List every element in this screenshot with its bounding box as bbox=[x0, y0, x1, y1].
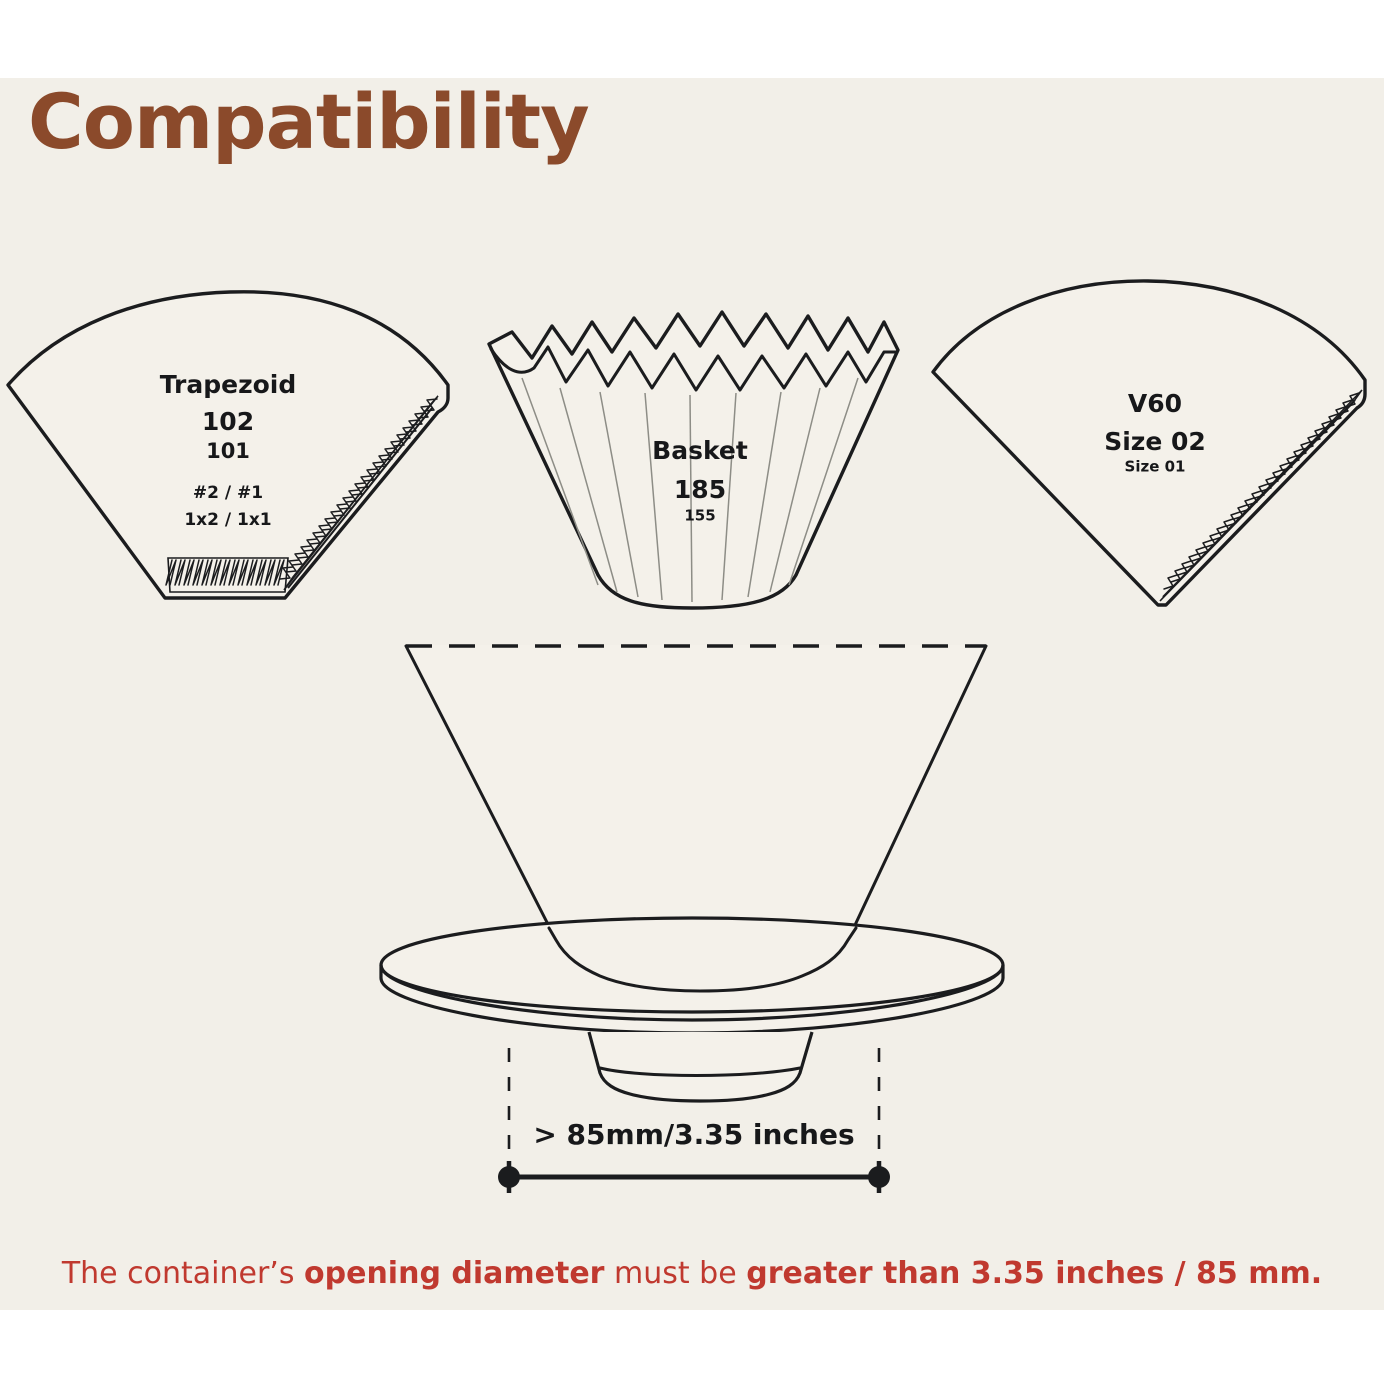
basket-size-secondary: 155 bbox=[684, 507, 715, 525]
v60-size-primary: Size 02 bbox=[1104, 427, 1206, 456]
dimension-endpoint-left bbox=[498, 1166, 520, 1188]
trapezoid-alt-secondary: 1x2 / 1x1 bbox=[184, 510, 271, 530]
caption-part2: must be bbox=[604, 1256, 746, 1291]
dimension-label: > 85mm/3.35 inches bbox=[533, 1118, 854, 1151]
dripper-spout bbox=[589, 1032, 812, 1101]
trapezoid-name: Trapezoid bbox=[160, 370, 297, 399]
caption-bold2: greater than 3.35 inches / 85 mm. bbox=[746, 1256, 1322, 1291]
filter-v60: V60 Size 02 Size 01 bbox=[933, 281, 1365, 605]
trapezoid-size-secondary: 101 bbox=[206, 439, 250, 463]
compatibility-diagram: Compatibility bbox=[0, 0, 1384, 1384]
filter-basket: Basket 185 155 bbox=[489, 312, 898, 608]
caption-text: The container’s opening diameter must be… bbox=[0, 1256, 1384, 1291]
v60-name: V60 bbox=[1128, 389, 1182, 418]
basket-name: Basket bbox=[652, 436, 748, 465]
v60-size-secondary: Size 01 bbox=[1125, 458, 1186, 476]
trapezoid-alt-primary: #2 / #1 bbox=[193, 483, 263, 503]
dimension-endpoint-right bbox=[868, 1166, 890, 1188]
diagram-artwork: Trapezoid 102 101 #2 / #1 1x2 / 1x1 bbox=[0, 0, 1384, 1384]
basket-size-primary: 185 bbox=[674, 475, 726, 504]
dripper-illustration bbox=[381, 645, 1003, 1101]
filter-trapezoid: Trapezoid 102 101 #2 / #1 1x2 / 1x1 bbox=[8, 292, 448, 598]
caption-part1: The container’s bbox=[62, 1256, 304, 1291]
trapezoid-size-primary: 102 bbox=[202, 407, 254, 436]
caption-bold1: opening diameter bbox=[304, 1256, 604, 1291]
